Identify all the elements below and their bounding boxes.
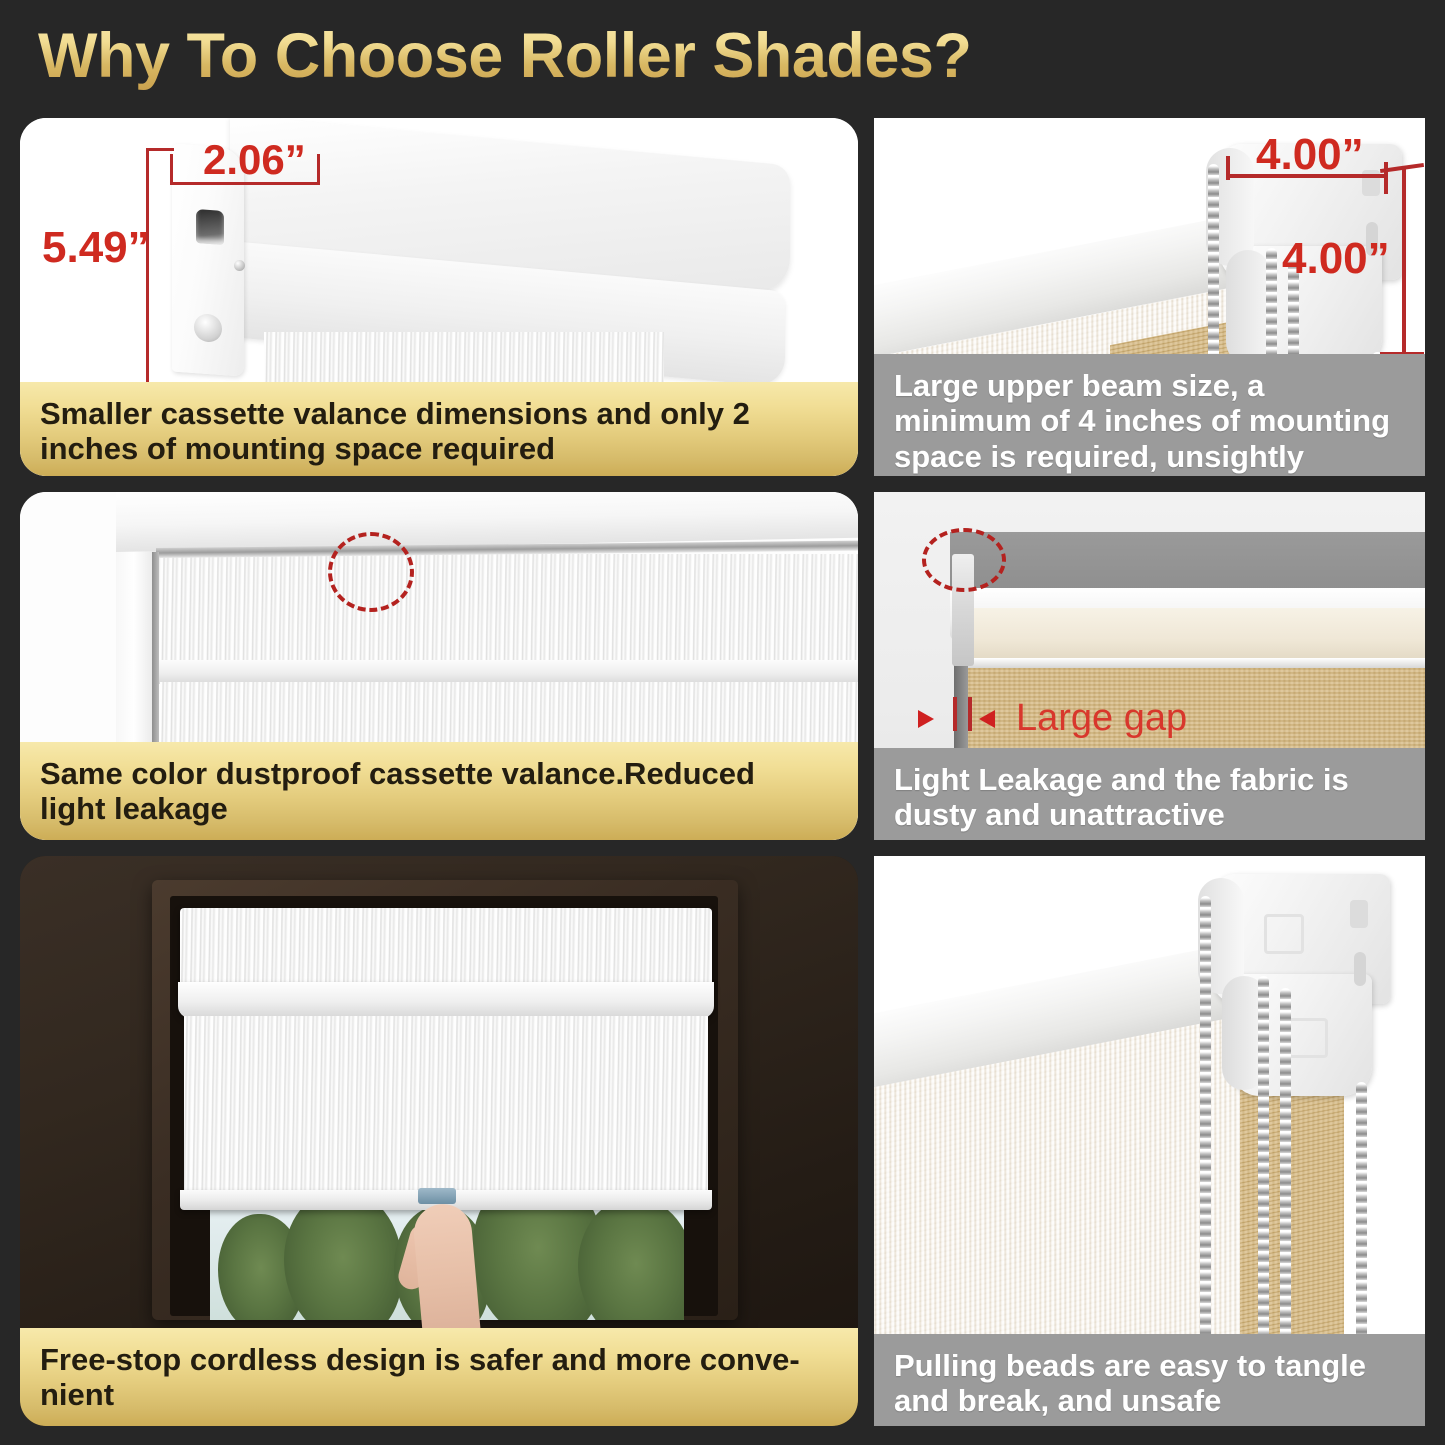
title-bar: Why To Choose Roller Shades? <box>0 0 1445 108</box>
endcap-slot-icon <box>196 209 224 245</box>
caption-line: dusty and unattractive <box>894 797 1405 832</box>
valance-lip <box>178 982 714 1018</box>
width-dimension-label: 2.06” <box>203 136 306 184</box>
bracket-screw-slot <box>1354 952 1366 986</box>
gap-arrow-left-icon <box>918 710 934 728</box>
caption-line: Same color dustproof cassette valance.Re… <box>40 756 838 791</box>
caption-line: light leakage <box>40 791 838 826</box>
panel-4-caption: Light Leakage and the fabric is dusty an… <box>874 748 1425 840</box>
highlight-circle-icon <box>328 532 414 612</box>
caption-line: Smaller cassette valance dimensions and … <box>40 396 838 431</box>
width-dim-right-tick <box>317 154 320 184</box>
caption-line: nient <box>40 1377 838 1412</box>
shade-fabric-upper <box>152 554 858 666</box>
panel-cordless-design: Free-stop cordless design is safer and m… <box>20 856 858 1426</box>
bracket-arrow-emblem-icon <box>1288 1018 1328 1058</box>
height-dim-vline <box>1402 166 1406 356</box>
bead-chain <box>1280 988 1291 1376</box>
bracket-arrow-emblem-icon <box>1264 914 1304 954</box>
width-dim-left-tick <box>170 154 173 184</box>
caption-line: Pulling beads are easy to tangle <box>894 1348 1405 1383</box>
panel-light-leakage: Large gap Light Leakage and the fabric i… <box>874 492 1425 840</box>
panel-dustproof-valance: smaller gap Same color dustproof cassett… <box>20 492 858 840</box>
ceiling-shadow <box>950 532 1425 594</box>
pull-tab <box>418 1188 456 1204</box>
panel-5-caption: Free-stop cordless design is safer and m… <box>20 1328 858 1426</box>
caption-line: Free-stop cordless design is safer and m… <box>40 1342 838 1377</box>
bracket-disc-lower <box>1226 250 1270 364</box>
caption-line: space is required, unsightly <box>894 439 1405 474</box>
panel-3-caption: Same color dustproof cassette valance.Re… <box>20 742 858 840</box>
bead-chain <box>1258 976 1269 1376</box>
panel-large-upper-beam: 4.00” 4.00” Large upper beam size, a min… <box>874 118 1425 476</box>
height-dimension-label: 4.00” <box>1282 234 1390 284</box>
bracket-screw-hole <box>1350 900 1368 928</box>
panel-2-caption: Large upper beam size, a minimum of 4 in… <box>874 354 1425 476</box>
valance-face <box>966 608 1425 662</box>
gap-marker <box>953 697 957 731</box>
caption-line: and break, and unsafe <box>894 1383 1405 1418</box>
panel-smaller-cassette: 5.49” 2.06” Smaller cassette valance dim… <box>20 118 858 476</box>
screw-icon <box>234 260 245 271</box>
width-dim-left-tick <box>1226 156 1230 180</box>
height-dimension-label: 5.49” <box>42 223 150 273</box>
valance-lip <box>152 660 858 684</box>
roller-shade-fabric <box>184 1016 708 1198</box>
tree-icon <box>578 1198 684 1320</box>
caption-line: minimum of 4 inches of mounting <box>894 403 1405 438</box>
panel-1-caption: Smaller cassette valance dimensions and … <box>20 382 858 476</box>
caption-line: Light Leakage and the fabric is <box>894 762 1405 797</box>
panel-pulling-beads: Pulling beads are easy to tangle and bre… <box>874 856 1425 1426</box>
caption-line: Large upper beam size, a <box>894 368 1405 403</box>
bead-chain <box>1356 1082 1367 1376</box>
width-dimension-label: 4.00” <box>1256 130 1364 180</box>
gap-arrow-right-icon <box>979 710 995 728</box>
height-dim-top-tick <box>146 148 174 151</box>
highlight-circle-icon <box>922 528 1006 592</box>
gap-marker <box>968 697 972 731</box>
width-dim-right-tick <box>1384 162 1388 194</box>
page-title: Why To Choose Roller Shades? <box>38 20 971 92</box>
caption-line: inches of mounting space required <box>40 431 838 466</box>
bead-chain <box>1200 896 1211 1376</box>
panel-6-caption: Pulling beads are easy to tangle and bre… <box>874 1334 1425 1426</box>
large-gap-label: Large gap <box>1016 697 1187 740</box>
